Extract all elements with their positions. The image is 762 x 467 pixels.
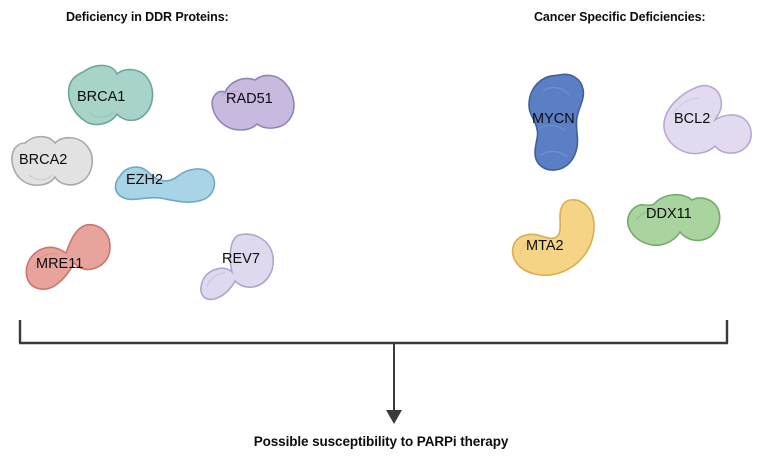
ddx11-shape	[624, 194, 722, 252]
bcl2-shape	[659, 84, 755, 162]
mta2-shape	[510, 196, 600, 278]
protein-blob-mre11[interactable]: MRE11	[24, 219, 116, 301]
protein-blob-ezh2[interactable]: EZH2	[110, 160, 218, 208]
arrow-head-icon	[386, 410, 402, 424]
brca1-shape	[57, 64, 157, 136]
rev7-shape	[199, 231, 283, 311]
protein-blob-rev7[interactable]: REV7	[199, 231, 283, 311]
rad51-shape	[203, 74, 299, 136]
section-header-left: Deficiency in DDR Proteins:	[66, 10, 229, 24]
protein-blob-bcl2[interactable]: BCL2	[659, 84, 755, 162]
protein-blob-mta2[interactable]: MTA2	[510, 196, 600, 278]
diagram-canvas: Deficiency in DDR Proteins: Cancer Speci…	[0, 0, 762, 467]
mre11-shape	[24, 219, 116, 301]
protein-blob-brca1[interactable]: BRCA1	[57, 64, 157, 136]
brca2-shape	[7, 133, 99, 193]
protein-blob-mycn[interactable]: MYCN	[521, 73, 599, 173]
mycn-shape	[521, 73, 599, 173]
protein-blob-rad51[interactable]: RAD51	[203, 74, 299, 136]
outcome-caption: Possible susceptibility to PARPi therapy	[0, 434, 762, 449]
protein-blob-ddx11[interactable]: DDX11	[624, 194, 722, 252]
section-header-right: Cancer Specific Deficiencies:	[534, 10, 705, 24]
protein-blob-brca2[interactable]: BRCA2	[7, 133, 99, 193]
ezh2-shape	[110, 160, 218, 208]
